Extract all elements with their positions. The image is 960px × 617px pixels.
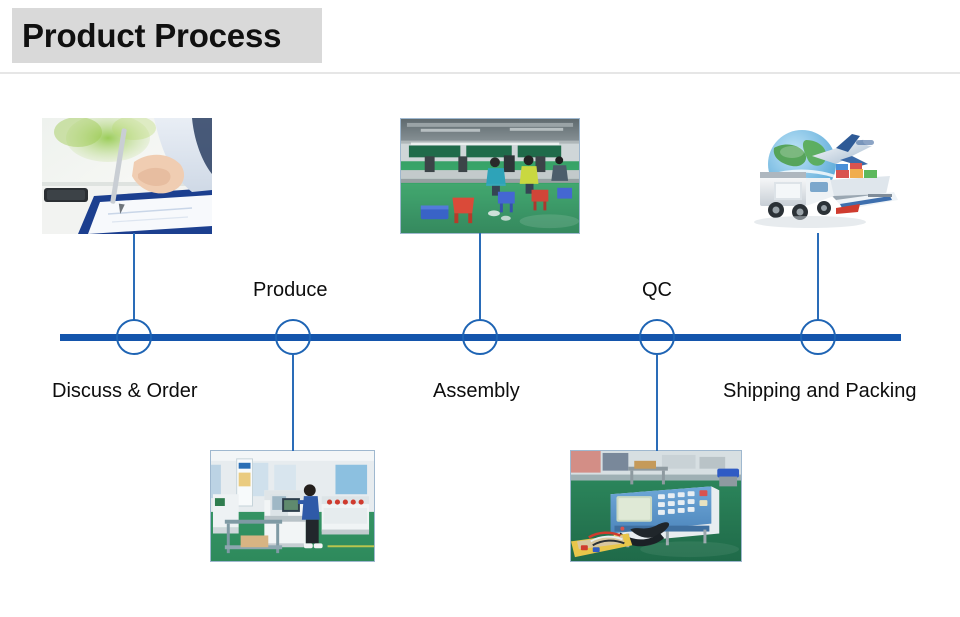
header-divider: [0, 72, 960, 74]
timeline-node-qc[interactable]: [639, 319, 675, 355]
page-title: Product Process: [12, 17, 281, 55]
qc-test-equipment-photo: [570, 450, 742, 562]
step-label-produce: Produce: [253, 279, 328, 302]
page-title-box: Product Process: [12, 8, 322, 63]
production-machine-photo: [210, 450, 375, 562]
step-label-assembly: Assembly: [433, 380, 520, 403]
connector-assembly: [479, 233, 481, 321]
step-label-shipping-packing: Shipping and Packing: [723, 380, 916, 403]
timeline-node-produce[interactable]: [275, 319, 311, 355]
connector-shipping-packing: [817, 233, 819, 321]
connector-discuss-order: [133, 233, 135, 321]
timeline-node-assembly[interactable]: [462, 319, 498, 355]
connector-qc: [656, 355, 658, 451]
page-header: Product Process: [0, 0, 960, 74]
timeline-node-discuss-order[interactable]: [116, 319, 152, 355]
connector-produce: [292, 355, 294, 451]
assembly-line-photo: [400, 118, 580, 234]
step-label-discuss-order: Discuss & Order: [52, 380, 198, 403]
signing-contract-photo: [42, 118, 212, 234]
timeline-node-shipping-packing[interactable]: [800, 319, 836, 355]
logistics-graphic-photo: [740, 118, 900, 234]
step-label-qc: QC: [642, 279, 672, 302]
